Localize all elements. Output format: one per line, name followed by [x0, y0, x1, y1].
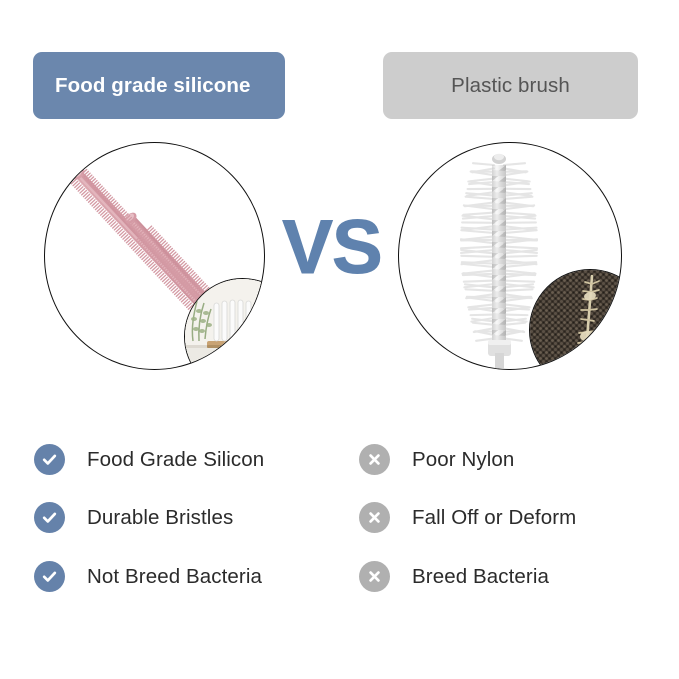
right-product-photo [398, 142, 622, 370]
left-feature-label-2: Durable Bristles [87, 506, 233, 530]
left-feature-row-1: Food Grade Silicon [34, 444, 264, 475]
check-circle-icon [34, 502, 65, 533]
x-circle-icon [359, 561, 390, 592]
left-product-photo [44, 142, 265, 370]
right-feature-label-1: Poor Nylon [412, 448, 514, 472]
check-circle-icon [34, 444, 65, 475]
left-feature-row-2: Durable Bristles [34, 502, 233, 533]
versus-label: VS [272, 210, 392, 286]
right-column-badge: Plastic brush [383, 52, 638, 119]
left-feature-label-1: Food Grade Silicon [87, 448, 264, 472]
right-feature-label-2: Fall Off or Deform [412, 506, 576, 530]
x-circle-icon [359, 502, 390, 533]
x-circle-icon [359, 444, 390, 475]
left-feature-row-3: Not Breed Bacteria [34, 561, 262, 592]
product-comparison-infographic: Food grade silicone Plastic brush [0, 0, 679, 679]
left-column-badge-label: Food grade silicone [55, 74, 251, 98]
right-column-badge-label: Plastic brush [451, 74, 570, 98]
left-feature-label-3: Not Breed Bacteria [87, 565, 262, 589]
right-feature-row-2: Fall Off or Deform [359, 502, 576, 533]
right-feature-row-1: Poor Nylon [359, 444, 514, 475]
check-circle-icon [34, 561, 65, 592]
right-feature-row-3: Breed Bacteria [359, 561, 549, 592]
left-column-badge: Food grade silicone [33, 52, 285, 119]
right-feature-label-3: Breed Bacteria [412, 565, 549, 589]
